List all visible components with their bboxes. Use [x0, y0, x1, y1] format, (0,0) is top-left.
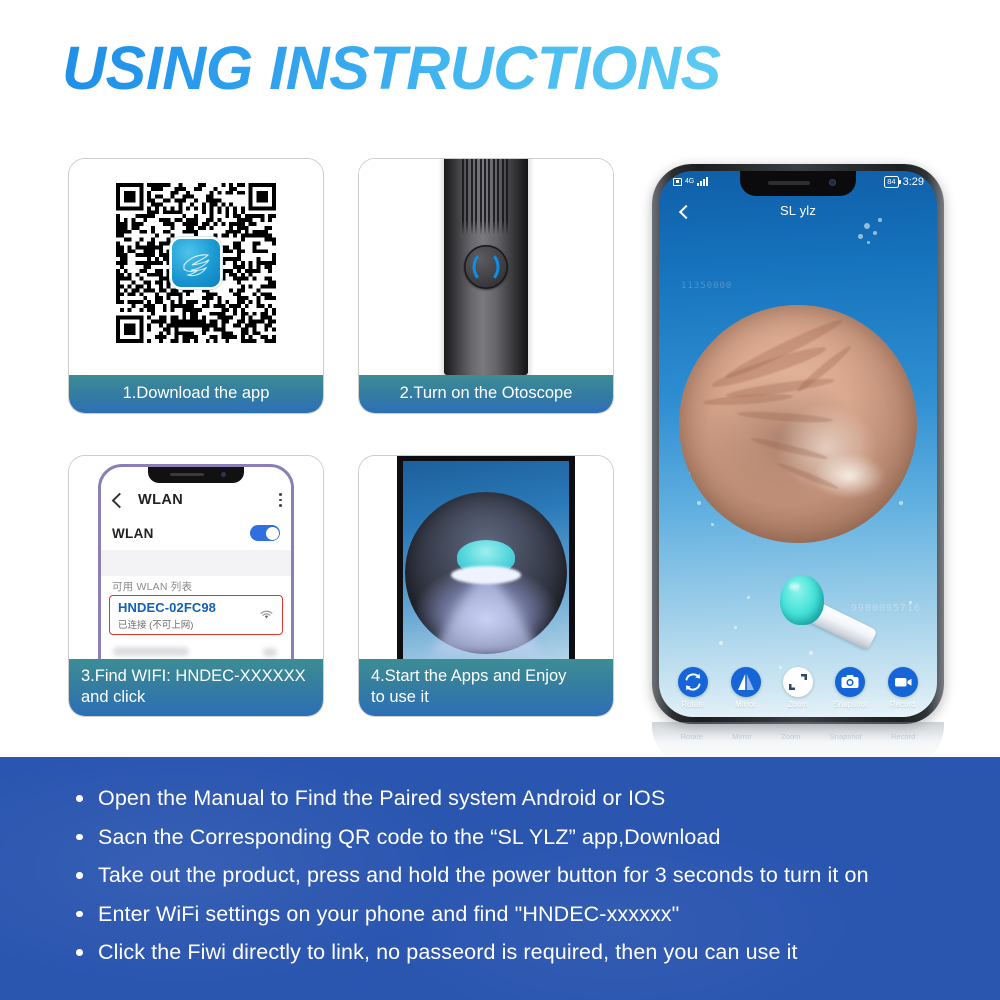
- tool-label: Mirror: [724, 700, 768, 709]
- step-card-download-app: 1.Download the app: [68, 158, 324, 414]
- step-caption: 2.Turn on the Otoscope: [359, 375, 613, 413]
- bubble: [858, 234, 863, 239]
- wlan-appbar: WLAN: [101, 484, 291, 516]
- ear-texture: [749, 435, 828, 461]
- kebab-menu-icon[interactable]: [279, 493, 282, 506]
- tool-mirror[interactable]: Mirror: [724, 667, 768, 709]
- probe-tip-icon: [457, 540, 515, 574]
- bubble: [719, 641, 723, 645]
- app-preview-phone: 4G 84 3:29 SL ylz 11350000 9900095716: [652, 164, 944, 724]
- tool-label: Zoom: [776, 700, 820, 709]
- power-ring-icon[interactable]: [464, 245, 508, 289]
- phone-notch: [148, 466, 244, 483]
- tool-label: Rotate: [671, 700, 715, 709]
- qr-code[interactable]: [116, 183, 276, 343]
- bubble: [734, 626, 737, 629]
- instruction-bullet: Take out the product, press and hold the…: [0, 862, 1000, 888]
- wlan-toggle-row[interactable]: WLAN: [101, 516, 291, 550]
- blurred-network-row: [113, 647, 189, 656]
- watermark-bottom: 9900095716: [851, 603, 921, 614]
- eardrum-screen: [403, 461, 569, 684]
- reflected-tool-label: Snapshot: [830, 732, 862, 741]
- back-arrow-icon[interactable]: [110, 492, 127, 509]
- eardrum-view: [405, 492, 567, 654]
- wlan-network-status: 已连接 (不可上网): [118, 617, 274, 631]
- reflected-tool-label: Mirror: [732, 732, 752, 741]
- instruction-bullet: Sacn the Corresponding QR code to the “S…: [0, 824, 1000, 850]
- step-caption: 3.Find WIFI: HNDEC-XXXXXX and click: [69, 659, 323, 716]
- step-caption: 4.Start the Apps and Enjoy to use it: [359, 659, 613, 716]
- app-logo-icon: [170, 237, 222, 289]
- step-caption-line2: to use it: [371, 687, 603, 708]
- bubble: [899, 501, 903, 505]
- tool-rotate[interactable]: Rotate: [671, 667, 715, 709]
- signal-bars-icon: [697, 177, 708, 186]
- watermark-top: 11350000: [681, 281, 732, 291]
- instruction-bullet: Enter WiFi settings on your phone and fi…: [0, 901, 1000, 927]
- tool-label: Snapshot: [828, 700, 872, 709]
- bubble: [711, 523, 714, 526]
- instruction-bullet: Open the Manual to Find the Paired syste…: [0, 785, 1000, 811]
- step-card-start-app: 4.Start the Apps and Enjoy to use it: [358, 455, 614, 717]
- wlan-section-label: 可用 WLAN 列表: [112, 579, 192, 594]
- device-grip-ribs: [462, 159, 510, 235]
- bubble: [867, 241, 870, 244]
- mirror-icon: [731, 667, 761, 697]
- reflected-tool-label: Rotate: [681, 732, 703, 741]
- tool-zoom[interactable]: Zoom: [776, 667, 820, 709]
- bubble: [697, 501, 701, 505]
- instruction-page: USING INSTRUCTIONS 1.Download the app: [0, 0, 1000, 1000]
- wlan-toggle-switch[interactable]: [250, 525, 280, 541]
- video-camera-icon: [888, 667, 918, 697]
- wlan-phone-mock: WLAN WLAN 可用 WLAN 列表 HNDEC-02FC98 已连接 (不…: [98, 464, 294, 680]
- wlan-toggle-label: WLAN: [112, 526, 154, 541]
- network-type-label: 4G: [685, 178, 694, 185]
- page-title: USING INSTRUCTIONS: [62, 33, 721, 103]
- wlan-section-divider: [101, 550, 291, 576]
- tool-label: Record: [881, 700, 925, 709]
- camera-toolbar: Rotate Mirror: [659, 667, 937, 709]
- bubble: [809, 651, 813, 655]
- wlan-appbar-title: WLAN: [138, 492, 183, 508]
- ear-texture: [737, 410, 833, 425]
- summary-instructions-panel: Open the Manual to Find the Paired syste…: [0, 757, 1000, 1000]
- phone-screen: 4G 84 3:29 SL ylz 11350000 9900095716: [659, 171, 937, 717]
- ear-texture: [703, 392, 793, 407]
- instruction-bullet-list: Open the Manual to Find the Paired syste…: [0, 757, 1000, 965]
- tool-record[interactable]: Record: [881, 667, 925, 709]
- wifi-signal-icon: [259, 608, 274, 620]
- eardrum-phone-mock: [397, 456, 575, 684]
- clock-label: 3:29: [903, 176, 924, 188]
- wlan-network-ssid: HNDEC-02FC98: [118, 600, 274, 615]
- blurred-network-icon: [263, 648, 277, 657]
- step-caption: 1.Download the app: [69, 375, 323, 413]
- tool-snapshot[interactable]: Snapshot: [828, 667, 872, 709]
- step-card-find-wifi: WLAN WLAN 可用 WLAN 列表 HNDEC-02FC98 已连接 (不…: [68, 455, 324, 717]
- ear-texture: [723, 315, 845, 383]
- screenshot-icon: [673, 178, 682, 186]
- reflected-tool-label: Record: [891, 732, 915, 741]
- ear-canal-image: [679, 305, 917, 543]
- step-caption-line2: and click: [81, 687, 313, 708]
- ear-highlight: [812, 453, 886, 499]
- app-title: SL ylz: [659, 203, 937, 218]
- camera-icon: [835, 667, 865, 697]
- device-body: [444, 159, 528, 375]
- status-bar: 4G 84 3:29: [659, 175, 937, 193]
- rotate-icon: [678, 667, 708, 697]
- bubble: [747, 596, 750, 599]
- step-card-turn-on-otoscope: 2.Turn on the Otoscope: [358, 158, 614, 414]
- zoom-icon: [783, 667, 813, 697]
- battery-icon: 84: [884, 176, 898, 188]
- reflected-tool-label: Zoom: [781, 732, 800, 741]
- step-caption-line1: 3.Find WIFI: HNDEC-XXXXXX: [81, 666, 313, 687]
- step-caption-line1: 4.Start the Apps and Enjoy: [371, 666, 603, 687]
- wlan-network-item[interactable]: HNDEC-02FC98 已连接 (不可上网): [109, 595, 283, 635]
- probe-silicone-tip: [780, 575, 824, 625]
- bubble: [873, 231, 877, 235]
- app-bar: SL ylz: [659, 200, 937, 226]
- instruction-bullet: Click the Fiwi directly to link, no pass…: [0, 939, 1000, 965]
